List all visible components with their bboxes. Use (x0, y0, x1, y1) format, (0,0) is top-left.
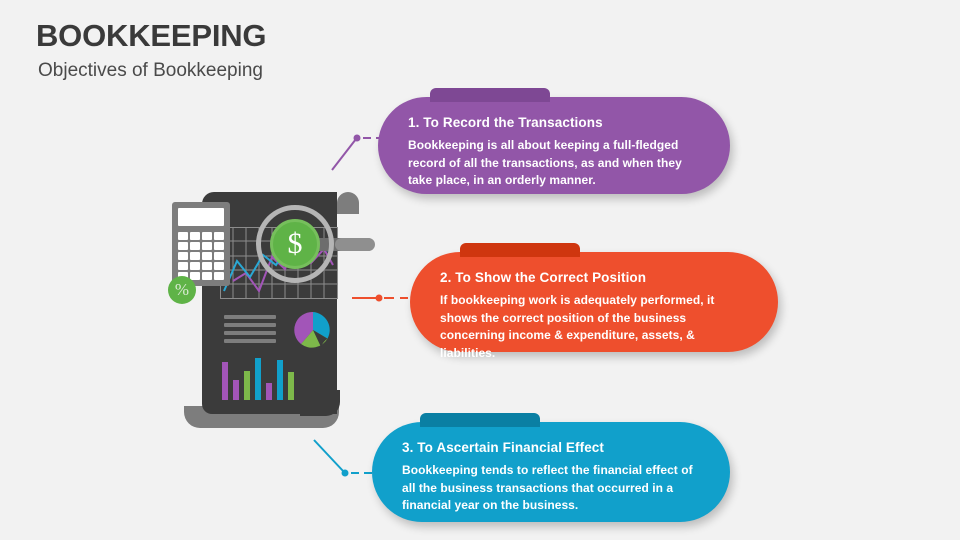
dollar-coin-icon: $ (270, 219, 320, 269)
objective-card-2[interactable]: 2. To Show the Correct Position If bookk… (410, 252, 778, 352)
magnifier-grip (335, 238, 375, 251)
card-3-heading: 3. To Ascertain Financial Effect (402, 440, 702, 455)
card-2-heading: 2. To Show the Correct Position (440, 270, 750, 285)
card-1-body: Bookkeeping is all about keeping a full-… (408, 137, 702, 190)
objective-card-1[interactable]: 1. To Record the Transactions Bookkeepin… (378, 97, 730, 194)
pie-chart (293, 310, 333, 350)
objective-card-3[interactable]: 3. To Ascertain Financial Effect Bookkee… (372, 422, 730, 522)
page-title: BOOKKEEPING (36, 18, 266, 54)
document-top-corner (337, 192, 359, 214)
card-3-tab (420, 413, 540, 427)
percent-icon: % (168, 276, 196, 304)
calculator-icon (172, 202, 230, 286)
card-2-tab (460, 243, 580, 257)
connector-line-2 (352, 290, 418, 306)
connector-line-3 (312, 438, 382, 488)
document-text-lines (224, 315, 276, 347)
calculator-keypad (178, 232, 224, 280)
card-1-heading: 1. To Record the Transactions (408, 115, 702, 130)
bar-chart (222, 358, 310, 400)
slide-canvas: BOOKKEEPING Objectives of Bookkeeping (0, 0, 960, 540)
dollar-sign: $ (273, 222, 317, 266)
card-3-accent-shadow (704, 436, 744, 508)
card-3-body: Bookkeeping tends to reflect the financi… (402, 462, 702, 515)
card-1-tab (430, 88, 550, 102)
card-2-body: If bookkeeping work is adequately perfor… (440, 292, 750, 362)
page-subtitle: Objectives of Bookkeeping (38, 60, 263, 82)
calculator-screen (178, 208, 224, 226)
card-1-accent-shadow (704, 111, 744, 180)
card-2-accent-shadow (752, 266, 792, 338)
